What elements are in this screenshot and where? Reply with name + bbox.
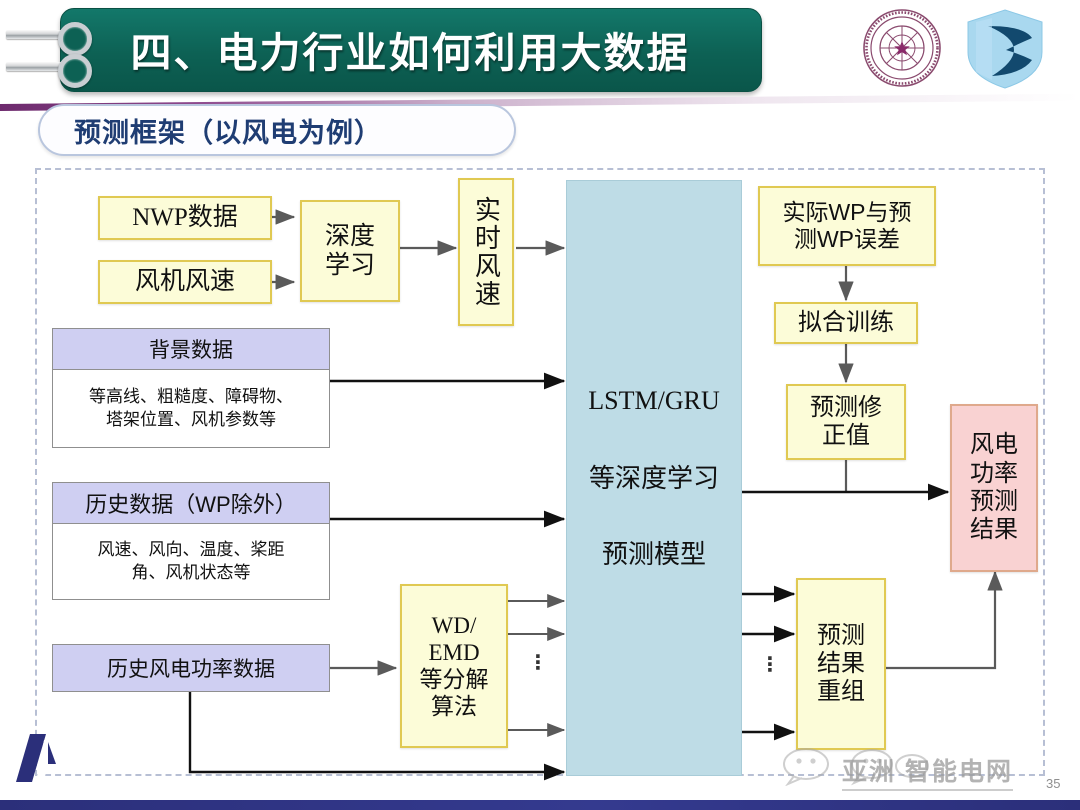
tsinghua-seal-icon xyxy=(862,8,942,88)
box-wind-power-forecast-result[interactable]: 风电 功率 预测 结果 xyxy=(950,404,1038,572)
box-result-recombination[interactable]: 预测 结果 重组 xyxy=(796,578,886,750)
model-line3: 预测模型 xyxy=(602,539,706,570)
correction-line2: 正值 xyxy=(822,422,870,450)
box-turbine-wind-speed[interactable]: 风机风速 xyxy=(98,260,272,304)
box-fit-training[interactable]: 拟合训练 xyxy=(774,302,918,344)
wp-error-line1: 实际WP与预 xyxy=(782,199,911,226)
recombine-line3: 重组 xyxy=(817,678,865,706)
decomposition-line2: EMD xyxy=(428,639,479,666)
box-fit-training-label: 拟合训练 xyxy=(798,309,894,337)
box-deep-learning-line1: 深度 xyxy=(325,222,375,252)
box-nwp-data-label: NWP数据 xyxy=(132,203,238,233)
correction-line1: 预测修 xyxy=(810,394,882,422)
box-realtime-wind-speed[interactable]: 实时风速 xyxy=(458,178,514,326)
corner-brand-logo-icon xyxy=(12,728,68,788)
model-output-ellipsis: ⋮ xyxy=(760,660,776,671)
box-deep-learning[interactable]: 深度 学习 xyxy=(300,200,400,302)
box-turbine-wind-speed-label: 风机风速 xyxy=(135,267,235,297)
group-background-data-body: 等高线、粗糙度、障碍物、 塔架位置、风机参数等 xyxy=(53,370,329,448)
footer-bar xyxy=(0,800,1080,810)
history-data-line1: 风速、风向、温度、桨距 xyxy=(98,539,285,562)
recombine-line1: 预测 xyxy=(817,622,865,650)
group-history-data-body: 风速、风向、温度、桨距 角、风机状态等 xyxy=(53,524,329,600)
box-prediction-correction[interactable]: 预测修 正值 xyxy=(786,384,906,460)
box-nwp-data[interactable]: NWP数据 xyxy=(98,196,272,240)
watermark-text: 亚洲 智能电网 xyxy=(842,752,1013,791)
background-data-line2: 塔架位置、风机参数等 xyxy=(106,409,276,432)
box-realtime-wind-speed-label: 实时风速 xyxy=(471,196,502,308)
wp-error-line2: 测WP误差 xyxy=(794,226,900,253)
section-subtitle-label: 预测框架（以风电为例） xyxy=(74,111,382,150)
slide-root: 四、电力行业如何利用大数据 预测框架（以风电为例） xyxy=(0,0,1080,810)
box-deep-learning-line2: 学习 xyxy=(325,251,375,281)
result-line2: 功率 xyxy=(970,460,1018,488)
result-line4: 结果 xyxy=(970,516,1018,544)
box-lstm-gru-model[interactable]: LSTM/GRU 等深度学习 预测模型 xyxy=(566,180,742,776)
model-line1: LSTM/GRU xyxy=(588,386,719,417)
group-background-data[interactable]: 背景数据 等高线、粗糙度、障碍物、 塔架位置、风机参数等 xyxy=(52,328,330,448)
model-line2: 等深度学习 xyxy=(589,463,719,494)
box-decomposition-algorithm[interactable]: WD/ EMD 等分解 算法 xyxy=(400,584,508,748)
page-title: 四、电力行业如何利用大数据 xyxy=(60,8,760,90)
decomposition-line3: 等分解 xyxy=(420,666,489,693)
box-history-wind-power-data-label: 历史风电功率数据 xyxy=(107,653,275,683)
history-data-line2: 角、风机状态等 xyxy=(132,562,251,585)
group-history-data[interactable]: 历史数据（WP除外） 风速、风向、温度、桨距 角、风机状态等 xyxy=(52,482,330,600)
section-subtitle: 预测框架（以风电为例） xyxy=(38,104,516,156)
result-line3: 预测 xyxy=(970,488,1018,516)
recombine-line2: 结果 xyxy=(817,650,865,678)
blue-shield-logo-icon xyxy=(962,6,1048,92)
group-background-data-title: 背景数据 xyxy=(53,329,329,370)
decomposition-output-ellipsis: ⋮ xyxy=(528,658,544,669)
page-number: 35 xyxy=(1046,776,1060,791)
result-line1: 风电 xyxy=(970,431,1018,459)
decomposition-line4: 算法 xyxy=(431,693,477,720)
decomposition-line1: WD/ xyxy=(432,612,477,639)
box-history-wind-power-data[interactable]: 历史风电功率数据 xyxy=(52,644,330,692)
group-history-data-title: 历史数据（WP除外） xyxy=(53,483,329,524)
background-data-line1: 等高线、粗糙度、障碍物、 xyxy=(89,386,293,409)
box-wp-error[interactable]: 实际WP与预 测WP误差 xyxy=(758,186,936,266)
